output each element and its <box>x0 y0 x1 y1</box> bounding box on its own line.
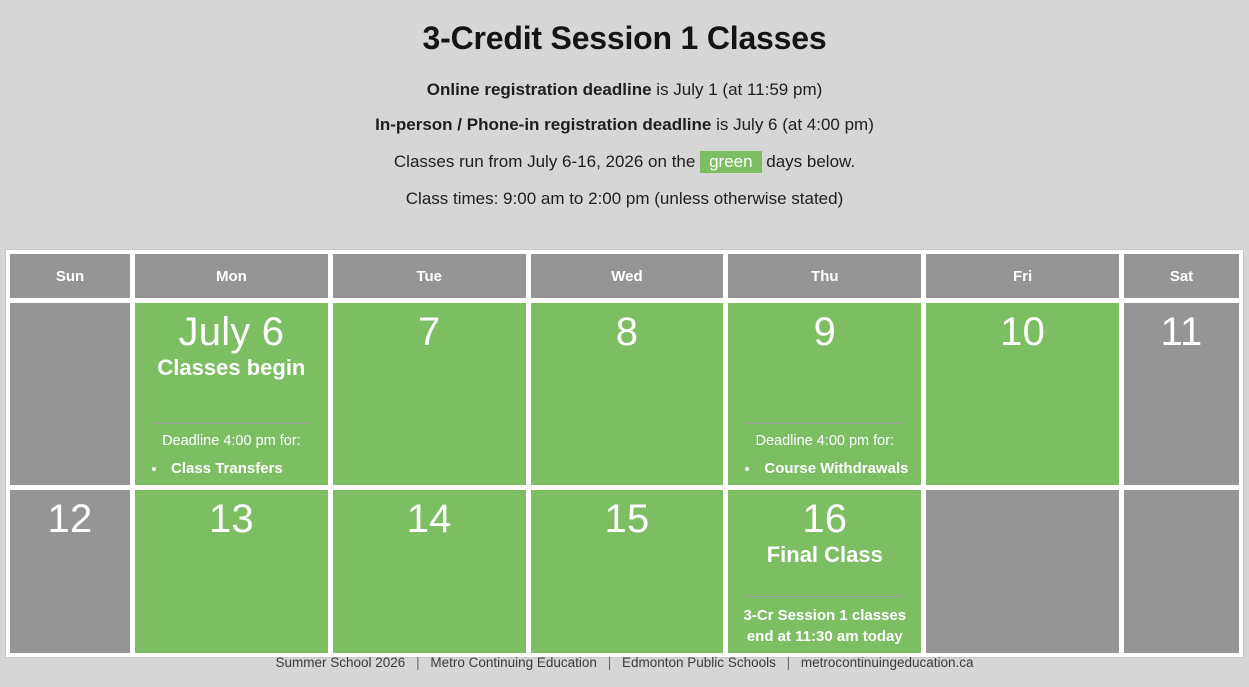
page-header: 3-Credit Session 1 Classes Online regist… <box>0 0 1249 210</box>
day-detail-block: 3-Cr Session 1 classes end at 11:30 am t… <box>738 585 911 647</box>
footer-item-organization: Metro Continuing Education <box>430 655 597 670</box>
green-legend-chip: green <box>700 151 761 174</box>
deadline-label: Deadline 4:00 pm for: <box>145 432 318 451</box>
weekday-label: Sun <box>56 268 84 285</box>
deadline-label: Deadline 4:00 pm for: <box>738 432 911 451</box>
online-registration-deadline-line: Online registration deadline is July 1 (… <box>0 79 1249 101</box>
footer-item-website: metrocontinuingeducation.ca <box>801 655 974 670</box>
day-cell-july-14[interactable]: 14 <box>333 490 526 653</box>
calendar-week-row-2: 12 13 14 15 16 Final Class 3-Cr Session … <box>10 490 1239 653</box>
classes-run-suffix: days below. <box>762 152 856 171</box>
day-cell-july-6[interactable]: July 6 Classes begin Deadline 4:00 pm fo… <box>135 303 328 485</box>
day-detail-block: Deadline 4:00 pm for: Class Transfers <box>145 412 318 479</box>
footer-separator: | <box>601 655 619 670</box>
page-footer: Summer School 2026 | Metro Continuing Ed… <box>0 655 1249 670</box>
day-number: 10 <box>936 311 1109 354</box>
day-number: 12 <box>20 498 120 541</box>
day-number: 7 <box>343 311 516 354</box>
footer-separator: | <box>409 655 427 670</box>
online-registration-deadline-label: Online registration deadline <box>427 80 652 99</box>
final-class-note: 3-Cr Session 1 classes end at 11:30 am t… <box>738 605 911 647</box>
day-cell-july-15[interactable]: 15 <box>531 490 724 653</box>
weekday-header-sat: Sat <box>1124 254 1239 298</box>
detail-divider <box>746 596 903 597</box>
day-number: July 6 <box>145 311 318 354</box>
day-cell-july-9[interactable]: 9 Deadline 4:00 pm for: Course Withdrawa… <box>728 303 921 485</box>
day-cell-july-13[interactable]: 13 <box>135 490 328 653</box>
day-event-title: Classes begin <box>145 355 318 380</box>
day-number: 8 <box>541 311 714 354</box>
list-item: Class Transfers <box>167 460 318 479</box>
inperson-registration-deadline-label: In-person / Phone-in registration deadli… <box>375 115 711 134</box>
deadline-bullet-list: Course Withdrawals <box>738 460 911 479</box>
final-class-note-line-1: 3-Cr Session 1 classes <box>738 605 911 626</box>
calendar-grid: Sun Mon Tue Wed Thu Fri Sat <box>5 249 1244 658</box>
weekday-header-fri: Fri <box>926 254 1119 298</box>
day-number: 9 <box>738 311 911 354</box>
list-item: Course Withdrawals <box>760 460 911 479</box>
inperson-registration-deadline-value: is July 6 (at 4:00 pm) <box>711 115 874 134</box>
calendar-weekday-header-row: Sun Mon Tue Wed Thu Fri Sat <box>10 254 1239 298</box>
day-cell-july-7[interactable]: 7 <box>333 303 526 485</box>
calendar-week-row-1: July 6 Classes begin Deadline 4:00 pm fo… <box>10 303 1239 485</box>
weekday-header-wed: Wed <box>531 254 724 298</box>
weekday-label: Fri <box>1013 268 1032 285</box>
day-cell-july-16[interactable]: 16 Final Class 3-Cr Session 1 classes en… <box>728 490 921 653</box>
day-cell-july-12[interactable]: 12 <box>10 490 130 653</box>
day-number: 13 <box>145 498 318 541</box>
weekday-label: Thu <box>811 268 839 285</box>
day-detail-block: Deadline 4:00 pm for: Course Withdrawals <box>738 412 911 479</box>
class-times-line: Class times: 9:00 am to 2:00 pm (unless … <box>0 188 1249 210</box>
weekday-label: Tue <box>416 268 442 285</box>
day-cell-empty-fri-week2 <box>926 490 1119 653</box>
deadline-bullet-list: Class Transfers <box>145 460 318 479</box>
weekday-header-thu: Thu <box>728 254 921 298</box>
day-cell-july-11[interactable]: 11 <box>1124 303 1239 485</box>
footer-item-session: Summer School 2026 <box>275 655 405 670</box>
day-event-title: Final Class <box>738 542 911 567</box>
day-number: 11 <box>1134 311 1229 354</box>
day-cell-july-8[interactable]: 8 <box>531 303 724 485</box>
classes-run-prefix: Classes run from July 6-16, 2026 on the <box>394 152 700 171</box>
calendar-page: 3-Credit Session 1 Classes Online regist… <box>0 0 1249 687</box>
weekday-header-tue: Tue <box>333 254 526 298</box>
weekday-label: Wed <box>611 268 642 285</box>
classes-run-line: Classes run from July 6-16, 2026 on the … <box>0 151 1249 174</box>
day-number: 15 <box>541 498 714 541</box>
weekday-label: Mon <box>216 268 247 285</box>
online-registration-deadline-value: is July 1 (at 11:59 pm) <box>652 80 823 99</box>
final-class-note-line-2: end at 11:30 am today <box>738 626 911 647</box>
weekday-label: Sat <box>1170 268 1193 285</box>
footer-item-district: Edmonton Public Schools <box>622 655 776 670</box>
detail-divider <box>746 423 903 424</box>
day-number: 14 <box>343 498 516 541</box>
inperson-registration-deadline-line: In-person / Phone-in registration deadli… <box>0 114 1249 136</box>
weekday-header-sun: Sun <box>10 254 130 298</box>
footer-separator: | <box>780 655 798 670</box>
day-cell-empty-sat-week2 <box>1124 490 1239 653</box>
day-cell-empty-sun-week1 <box>10 303 130 485</box>
weekday-header-mon: Mon <box>135 254 328 298</box>
page-title: 3-Credit Session 1 Classes <box>0 20 1249 57</box>
detail-divider <box>153 423 310 424</box>
day-cell-july-10[interactable]: 10 <box>926 303 1119 485</box>
day-number: 16 <box>738 498 911 541</box>
